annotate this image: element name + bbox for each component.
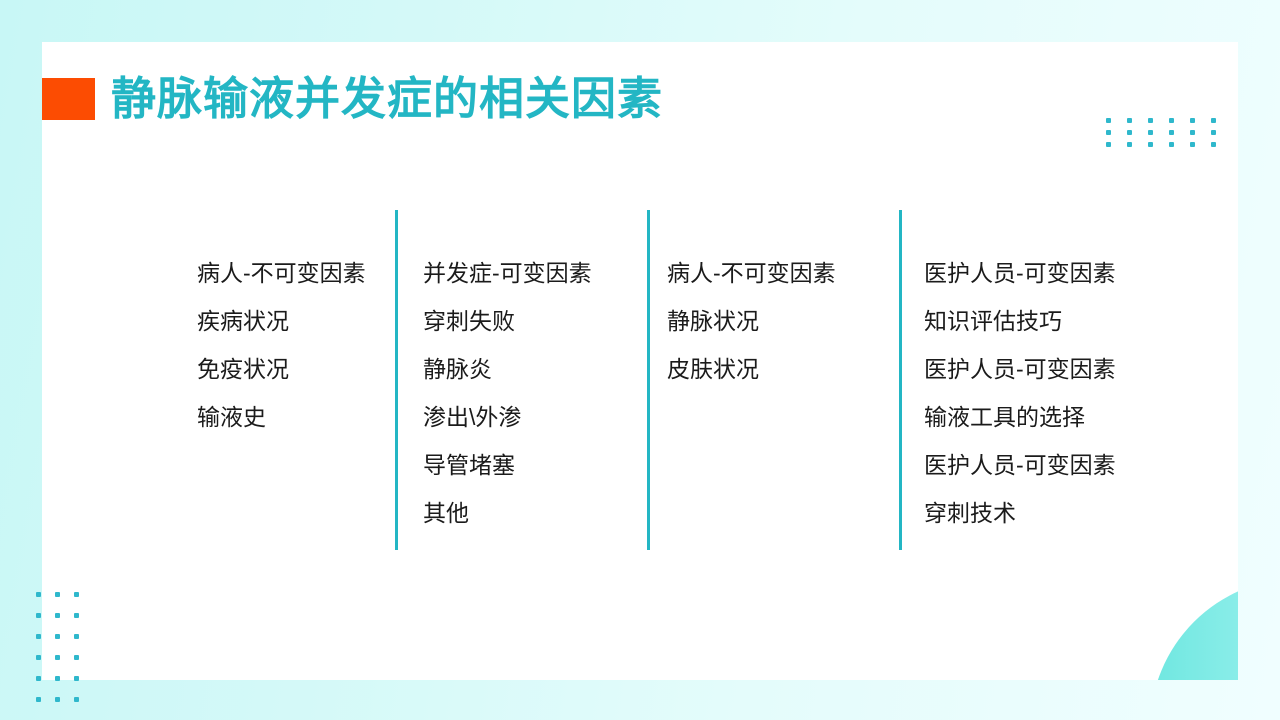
list-item: 皮肤状况 <box>667 345 899 393</box>
slide-canvas: 静脉输液并发症的相关因素 病人-不可变因素 疾病状况 <box>0 0 1280 720</box>
dot <box>36 697 41 702</box>
dot <box>1106 142 1111 147</box>
page-title: 静脉输液并发症的相关因素 <box>111 69 663 129</box>
list-item: 输液史 <box>197 393 395 441</box>
dot <box>1148 142 1153 147</box>
dot <box>1148 118 1153 123</box>
list-item: 疾病状况 <box>197 297 395 345</box>
dot <box>1169 142 1174 147</box>
dot <box>1169 118 1174 123</box>
dot <box>1148 130 1153 135</box>
dot <box>36 676 41 681</box>
list-item: 医护人员-可变因素 <box>924 249 1162 297</box>
dot <box>36 634 41 639</box>
column-patient-non-modifiable: 病人-不可变因素 疾病状况 免疫状况 输液史 <box>152 210 395 550</box>
dot <box>1127 118 1132 123</box>
dot <box>36 592 41 597</box>
list-item: 静脉状况 <box>667 297 899 345</box>
dot <box>36 655 41 660</box>
list-item: 病人-不可变因素 <box>197 249 395 297</box>
list-item: 静脉炎 <box>423 345 647 393</box>
list-item: 穿刺技术 <box>924 489 1162 537</box>
dot <box>1211 118 1216 123</box>
dot <box>1169 130 1174 135</box>
factor-columns: 病人-不可变因素 疾病状况 免疫状况 输液史 并发症-可变因素 穿刺失败 静脉炎… <box>152 210 1162 550</box>
list-item: 医护人员-可变因素 <box>924 441 1162 489</box>
list-item: 病人-不可变因素 <box>667 249 899 297</box>
list-item: 医护人员-可变因素 <box>924 345 1162 393</box>
list-item: 导管堵塞 <box>423 441 647 489</box>
column-patient-non-modifiable-2: 病人-不可变因素 静脉状况 皮肤状况 <box>647 210 899 550</box>
dot <box>36 613 41 618</box>
dot <box>1127 142 1132 147</box>
dot <box>1127 130 1132 135</box>
dot <box>1190 142 1195 147</box>
dot-grid-top-right <box>1106 118 1232 154</box>
slide-card: 静脉输液并发症的相关因素 病人-不可变因素 疾病状况 <box>42 42 1238 680</box>
list-item: 穿刺失败 <box>423 297 647 345</box>
list-item: 输液工具的选择 <box>924 393 1162 441</box>
dot <box>1106 118 1111 123</box>
column-complications-modifiable: 并发症-可变因素 穿刺失败 静脉炎 渗出\外渗 导管堵塞 其他 <box>395 210 647 550</box>
column-staff-modifiable: 医护人员-可变因素 知识评估技巧 医护人员-可变因素 输液工具的选择 医护人员-… <box>899 210 1162 550</box>
dot <box>1211 142 1216 147</box>
list-item: 渗出\外渗 <box>423 393 647 441</box>
list-item: 其他 <box>423 489 647 537</box>
dot <box>1190 118 1195 123</box>
dot <box>1106 130 1111 135</box>
title-marker-square <box>42 78 95 120</box>
list-item: 知识评估技巧 <box>924 297 1162 345</box>
decorative-corner-circle <box>1150 578 1238 680</box>
dot <box>55 697 60 702</box>
list-item: 免疫状况 <box>197 345 395 393</box>
dot <box>74 697 79 702</box>
list-item: 并发症-可变因素 <box>423 249 647 297</box>
dot <box>1190 130 1195 135</box>
dot <box>1211 130 1216 135</box>
